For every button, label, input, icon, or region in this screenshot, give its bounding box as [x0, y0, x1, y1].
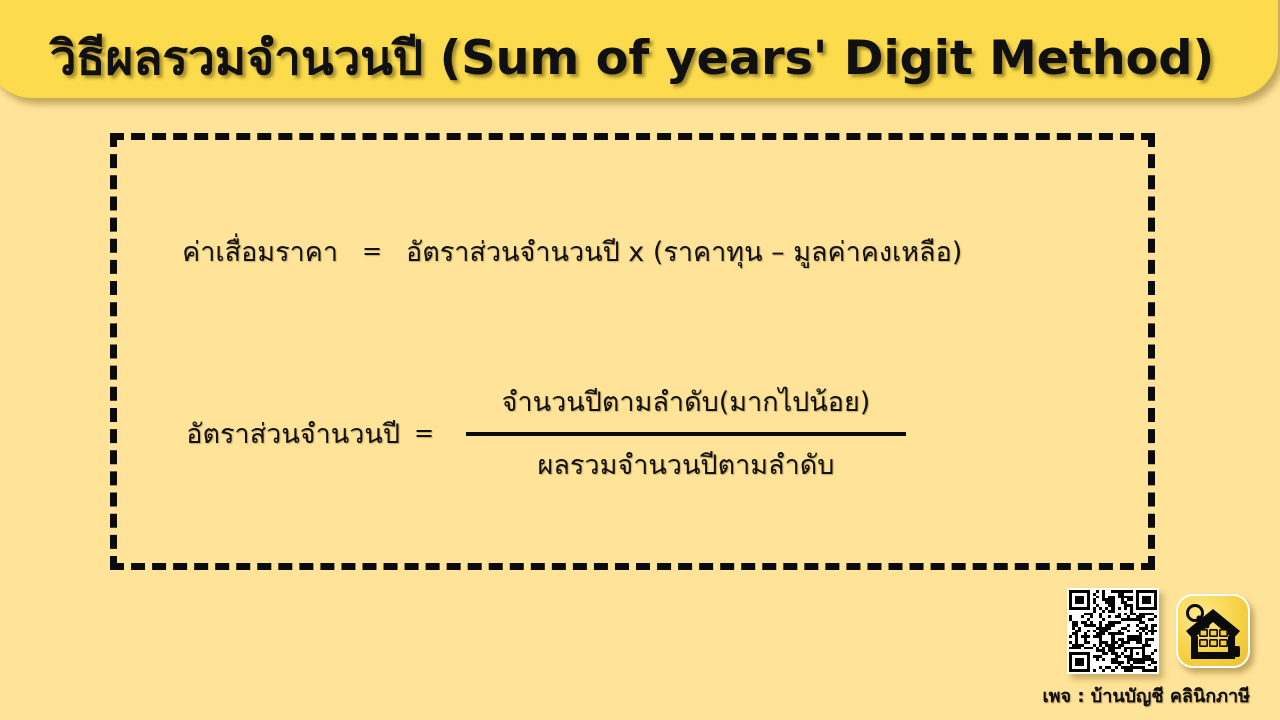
formula-year-ratio-equals: = — [400, 419, 448, 447]
branding-block: เพจ : บ้านบัญชี คลินิกภาษี — [1043, 588, 1251, 710]
fraction-numerator: จำนวนปีตามลำดับ(มากไปน้อย) — [496, 377, 877, 426]
house-magnifier-logo-icon[interactable] — [1176, 594, 1250, 668]
fraction-denominator: ผลรวมจำนวนปีตามลำดับ — [532, 440, 841, 489]
formula-year-ratio-label: อัตราส่วนจำนวนปี — [110, 412, 400, 455]
page-title: วิธีผลรวมจำนวนปี (Sum of years' Digit Me… — [50, 34, 1215, 96]
formula-depreciation: ค่าเสื่อมราคา = อัตราส่วนจำนวนปี x (ราคา… — [110, 225, 1155, 277]
title-banner: วิธีผลรวมจำนวนปี (Sum of years' Digit Me… — [0, 0, 1278, 98]
qr-code-icon[interactable] — [1067, 588, 1159, 674]
formula-depreciation-equals: = — [338, 237, 406, 265]
fraction-bar — [466, 432, 906, 436]
slide-canvas: วิธีผลรวมจำนวนปี (Sum of years' Digit Me… — [0, 0, 1280, 720]
formula-area: ค่าเสื่อมราคา = อัตราส่วนจำนวนปี x (ราคา… — [110, 133, 1155, 570]
formula-depreciation-label: ค่าเสื่อมราคา — [110, 230, 338, 273]
brand-caption: เพจ : บ้านบัญชี คลินิกภาษี — [1043, 681, 1251, 710]
formula-year-ratio: อัตราส่วนจำนวนปี = จำนวนปีตามลำดับ(มากไป… — [110, 373, 1155, 493]
branding-graphics — [1043, 588, 1251, 674]
formula-depreciation-expression: อัตราส่วนจำนวนปี x (ราคาทุน – มูลค่าคงเห… — [406, 230, 962, 273]
fraction: จำนวนปีตามลำดับ(มากไปน้อย) ผลรวมจำนวนปีต… — [466, 377, 906, 489]
